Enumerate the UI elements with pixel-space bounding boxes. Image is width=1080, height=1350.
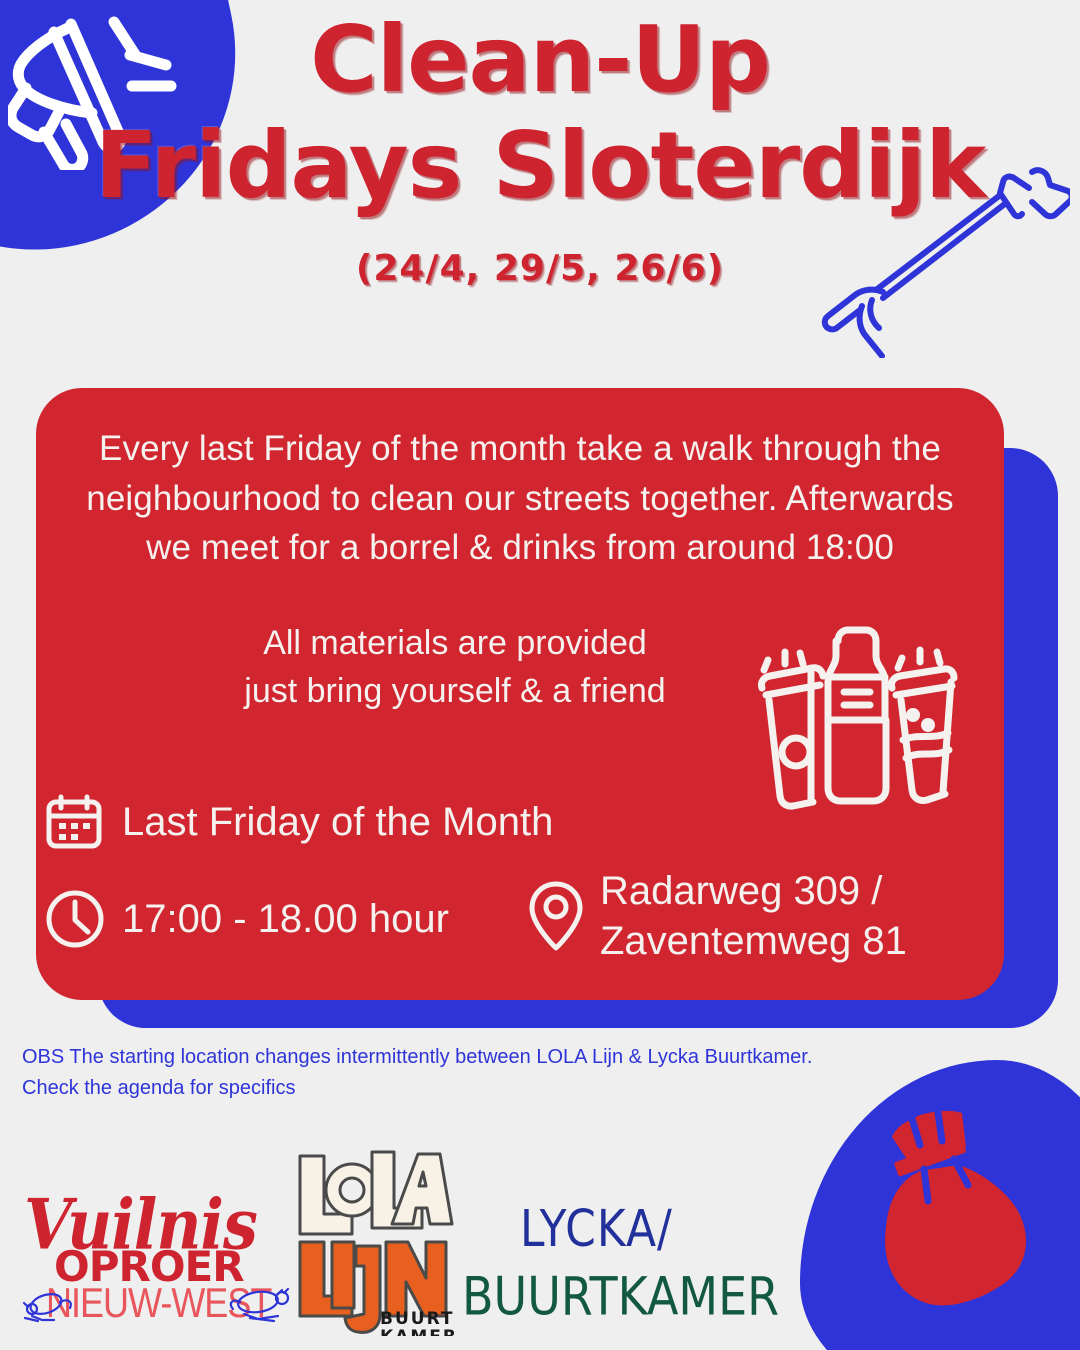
poster-canvas: Clean-Up Fridays Sloterdijk (24/4, 29/5,… [0,0,1080,1350]
obs-note-line-1: OBS The starting location changes interm… [22,1042,922,1073]
location-pin-icon [526,878,586,954]
card-intro-text: Every last Friday of the month take a wa… [84,424,956,573]
info-row-date: Last Friday of the Month [44,792,553,852]
info-time-text: 17:00 - 18.00 hour [122,893,449,945]
rat-left-icon [20,1290,76,1326]
card-materials-text: All materials are provided just bring yo… [76,619,834,716]
info-location-text: Radarweg 309 / Zaventemweg 81 [600,866,1004,966]
materials-line-2: just bring yourself & a friend [76,667,834,715]
lycka-bottom-text: BUURTKAMER [462,1265,752,1327]
info-row-location: Radarweg 309 / Zaventemweg 81 [526,866,1004,966]
materials-line-1: All materials are provided [76,619,834,667]
info-card: Every last Friday of the month take a wa… [36,388,1004,1000]
logo-lycka-buurtkamer: LYCKA/ BUURTKAMER [462,1200,752,1300]
lola-sub-line2: KAMER [380,1327,455,1336]
rat-right-icon [228,1286,294,1326]
logo-row: Vuilnis OPROER NIEUW-WEST [0,1134,1080,1344]
obs-note: OBS The starting location changes interm… [22,1042,922,1104]
logo-lola-lijn: BUURT KAMER [290,1146,455,1336]
clock-icon [44,888,106,950]
logo-vuilnis-oproer: Vuilnis OPROER NIEUW-WEST [18,1186,288,1326]
obs-note-line-2: Check the agenda for specifics [22,1073,922,1104]
litter-grabber-icon [800,158,1070,358]
lola-sub-line1: BUURT [380,1309,455,1329]
calendar-icon [44,792,104,852]
page-title-line1: Clean-Up [0,14,1080,106]
drinks-icon [740,600,970,815]
info-date-text: Last Friday of the Month [122,796,553,848]
info-row-time: 17:00 - 18.00 hour [44,888,449,950]
lycka-top-text: LYCKA/ [462,1200,752,1259]
